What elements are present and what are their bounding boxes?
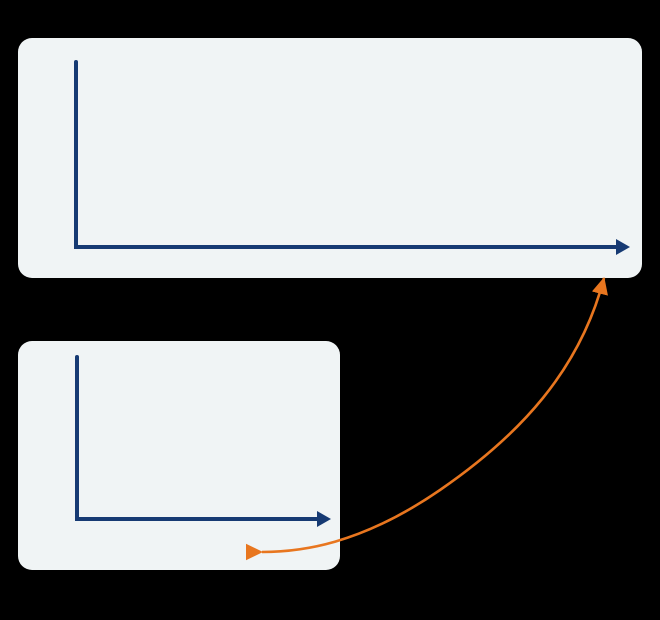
after-chart-card bbox=[18, 341, 340, 570]
after-chart-x-axis-arrowhead bbox=[317, 511, 331, 527]
before-chart-x-axis bbox=[74, 245, 618, 249]
before-chart-card bbox=[18, 38, 642, 278]
before-chart-x-axis-arrowhead bbox=[616, 239, 630, 255]
before-chart-y-axis bbox=[74, 60, 78, 247]
after-chart-y-axis bbox=[75, 355, 79, 521]
diagram-canvas bbox=[0, 0, 660, 620]
after-chart-x-axis bbox=[75, 517, 319, 521]
